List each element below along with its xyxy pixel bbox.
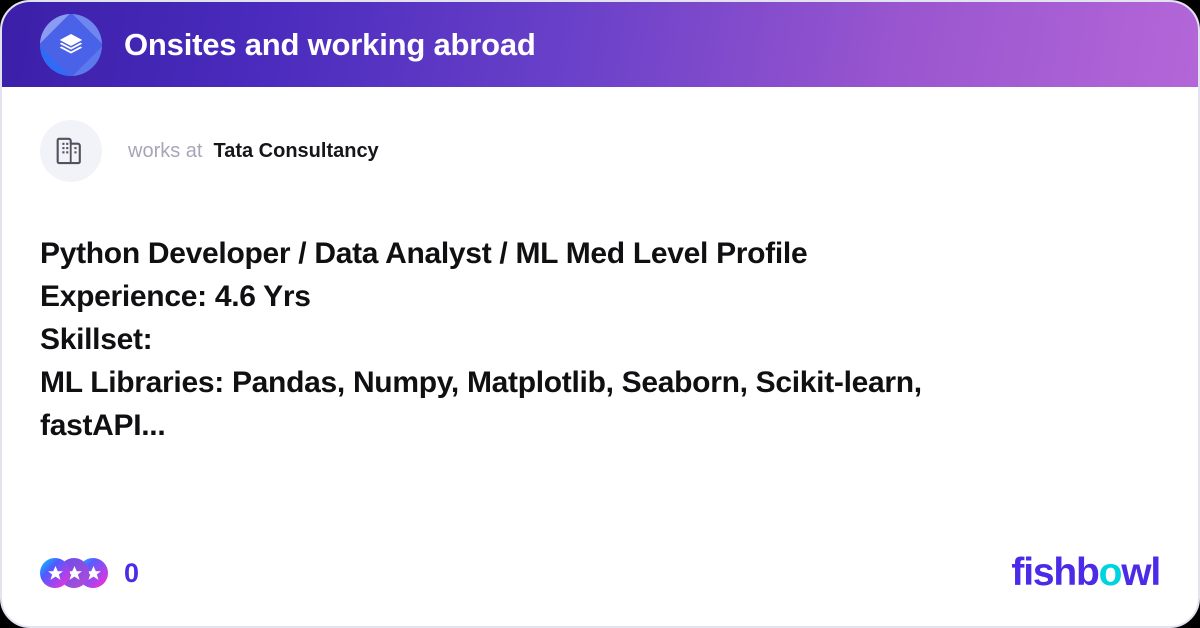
company-name: Tata Consultancy — [213, 140, 378, 163]
post-body-text: Python Developer / Data Analyst / ML Med… — [40, 233, 1050, 447]
avatar — [40, 120, 102, 182]
bowl-logo-icon — [40, 14, 102, 76]
author-row: works at Tata Consultancy — [40, 119, 1160, 183]
fishbowl-logo-part2: wl — [1121, 551, 1160, 595]
star-icon — [46, 564, 65, 583]
layers-stack-icon — [56, 30, 86, 60]
reactions-group[interactable]: 0 — [40, 558, 139, 589]
author-meta: works at Tata Consultancy — [128, 140, 379, 163]
fishbowl-logo-part1: fishb — [1011, 551, 1098, 595]
card-header: Onsites and working abroad — [2, 2, 1198, 87]
star-reaction-icon[interactable] — [40, 558, 70, 588]
bowl-title: Onsites and working abroad — [124, 27, 536, 63]
post-card: Onsites and working abroad — [0, 0, 1200, 628]
office-building-icon — [54, 134, 88, 168]
fishbowl-logo-bowl-o: o — [1099, 551, 1122, 595]
card-footer: 0 fishbowl — [40, 550, 1160, 596]
card-body: works at Tata Consultancy Python Develop… — [2, 87, 1198, 626]
fishbowl-logo: fishbowl — [1011, 551, 1160, 595]
reaction-count: 0 — [124, 558, 139, 589]
works-at-label: works at — [128, 140, 202, 163]
reaction-icon-stack[interactable] — [40, 558, 108, 588]
